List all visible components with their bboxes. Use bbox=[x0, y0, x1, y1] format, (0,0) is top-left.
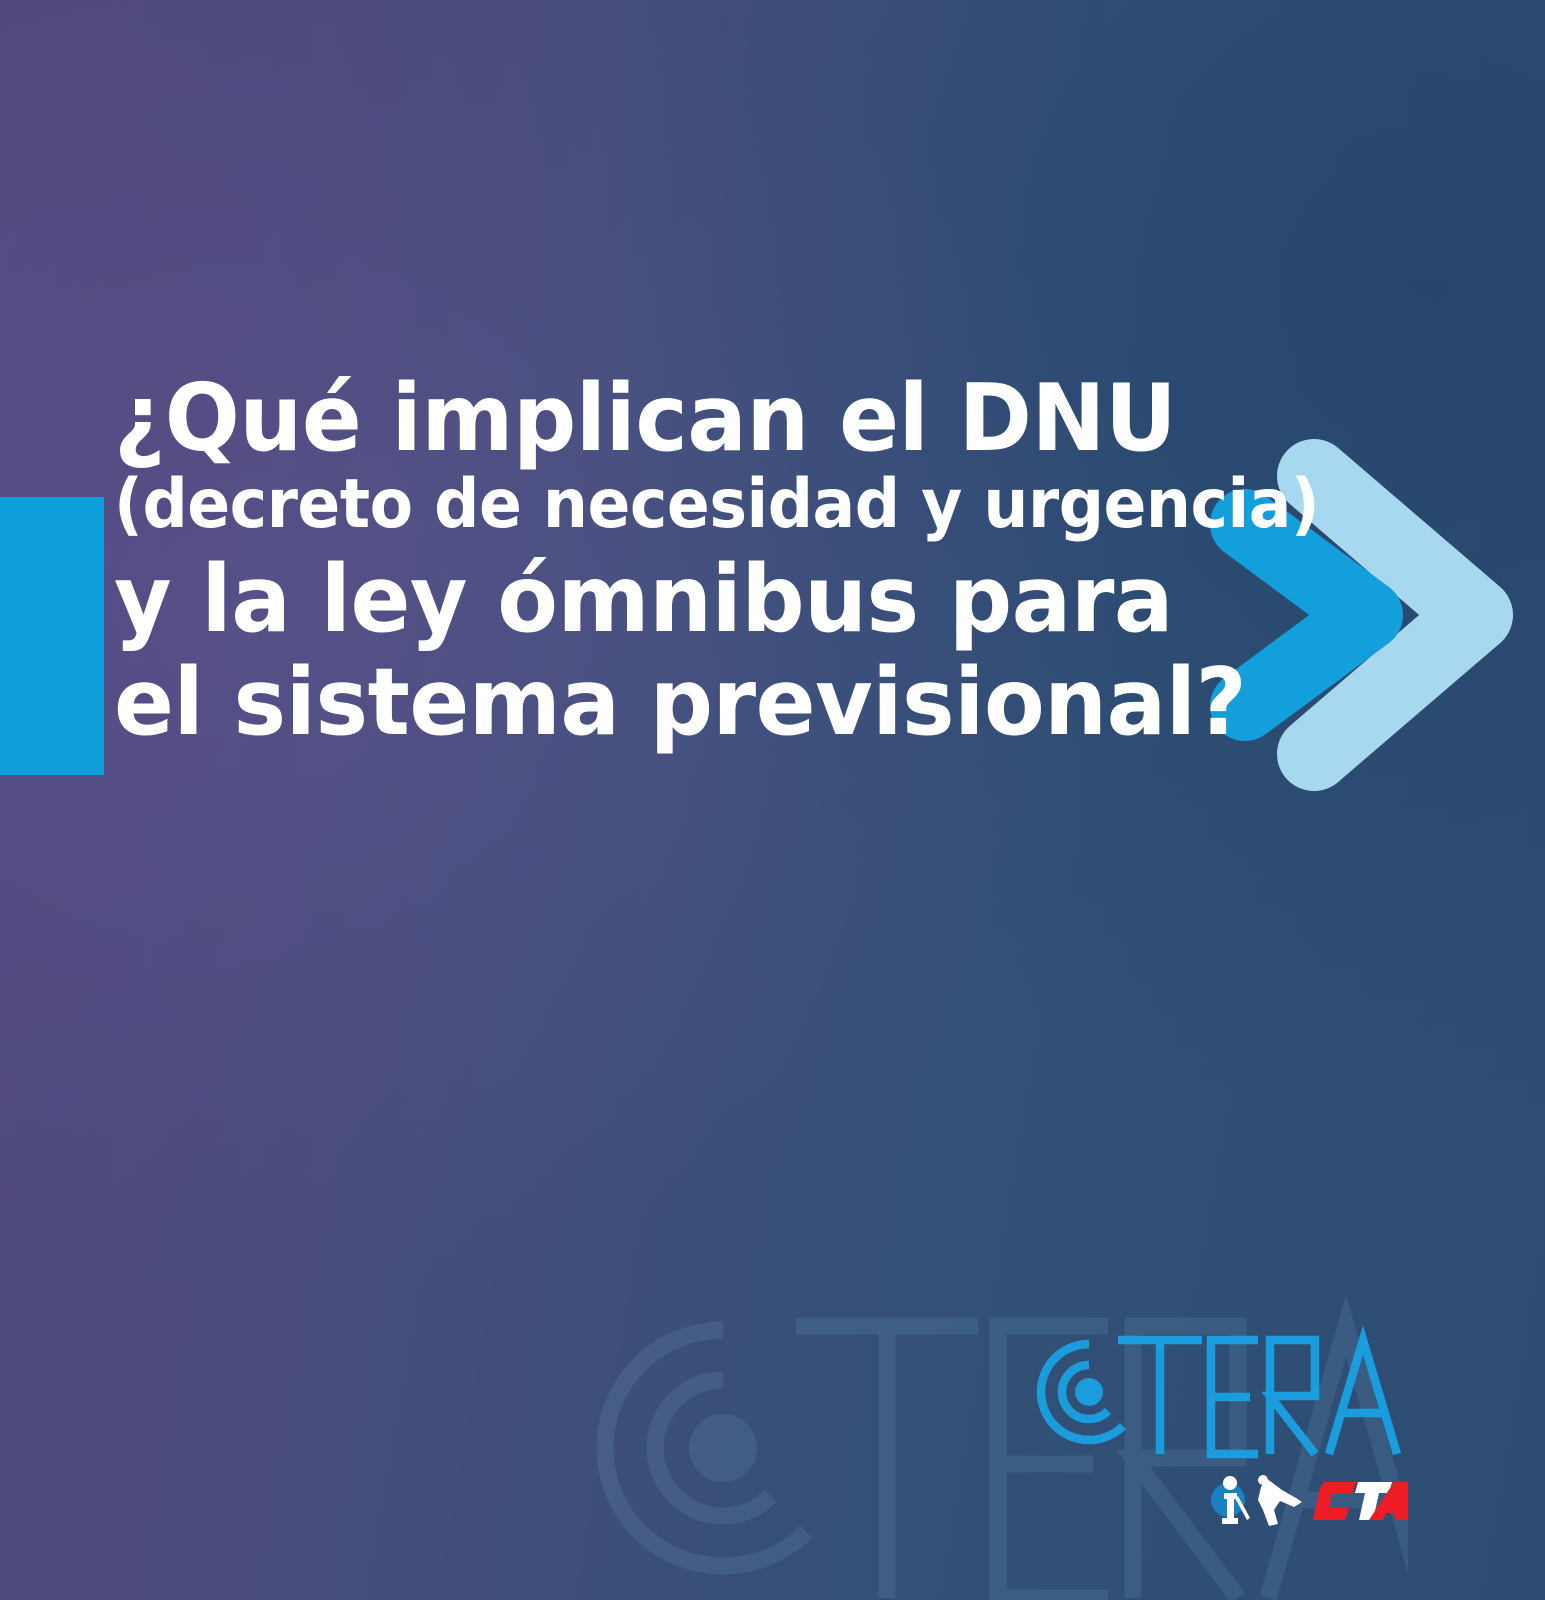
person-running-icon bbox=[1258, 1475, 1302, 1526]
headline-line-4: el sistema previsional? bbox=[114, 656, 1340, 749]
headline-line-2: (decreto de necesidad y urgencia) bbox=[114, 471, 1314, 539]
cta-logo bbox=[1208, 1466, 1408, 1532]
background-vignette bbox=[0, 0, 1545, 1600]
headline-line-3: y la ley ómnibus para bbox=[114, 553, 1340, 646]
info-disc bbox=[1211, 1483, 1245, 1517]
page-title: ¿Qué implican el DNU (decreto de necesid… bbox=[114, 372, 1404, 749]
ctera-logo bbox=[996, 1318, 1412, 1460]
accent-block bbox=[0, 497, 104, 775]
info-i-icon bbox=[1222, 1476, 1250, 1524]
ctera-watermark bbox=[508, 1268, 1408, 1600]
headline-line-1: ¿Qué implican el DNU bbox=[114, 372, 1340, 465]
cta-wordmark bbox=[1313, 1482, 1408, 1520]
poster-canvas: ¿Qué implican el DNU (decreto de necesid… bbox=[0, 0, 1545, 1600]
